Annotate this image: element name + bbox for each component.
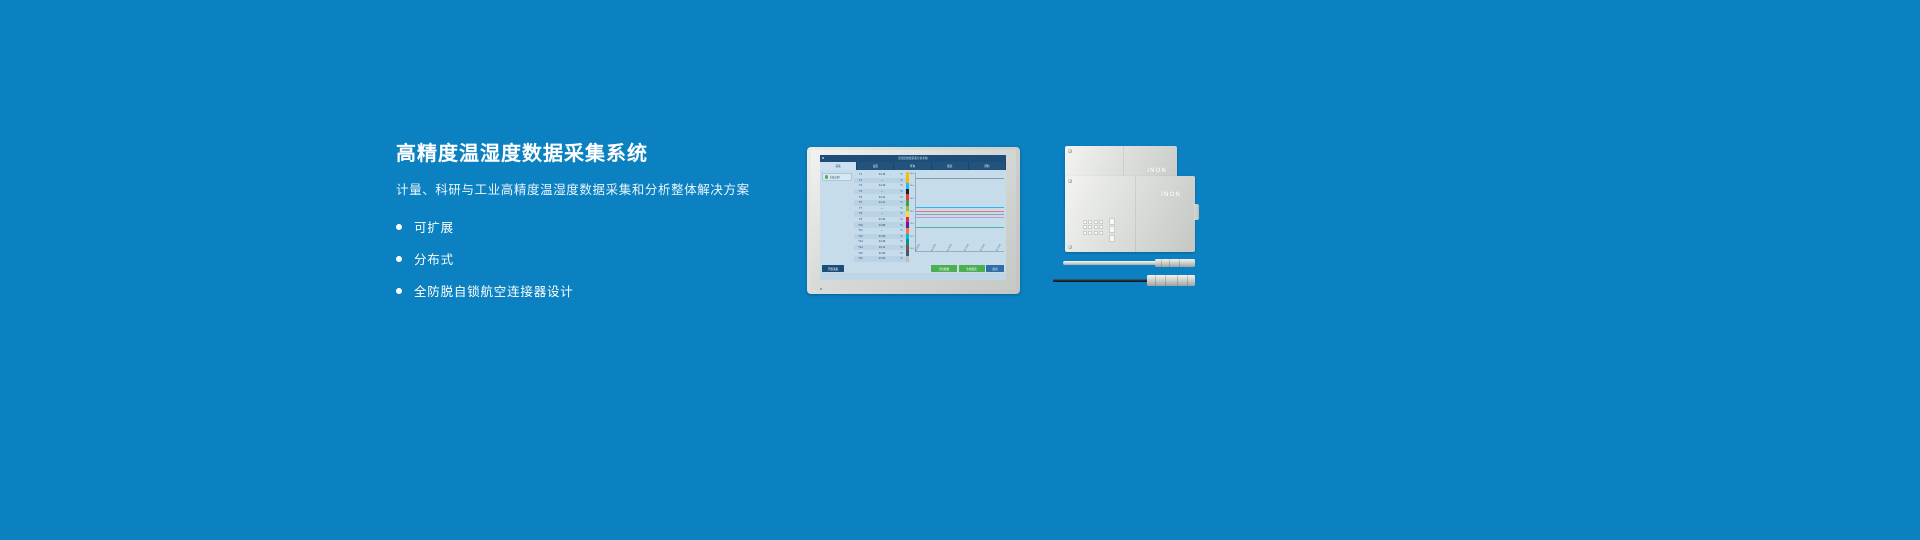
series-line: [916, 227, 1004, 228]
cell-channel: T10: [854, 224, 867, 227]
cell-unit: ℃: [897, 212, 906, 215]
start-acquire-button[interactable]: 开始采集: [822, 265, 844, 272]
cell-channel: T14: [854, 246, 867, 249]
tree-item-device[interactable]: 采集设备1: [822, 173, 852, 181]
cell-value: 23.18: [867, 173, 897, 176]
generate-report-button[interactable]: 生成报表: [959, 265, 985, 272]
feature-label: 可扩展: [414, 217, 454, 236]
cell-value: 24.28: [867, 240, 897, 243]
screw-icon: [1068, 149, 1072, 153]
y-tick-label: 20.0: [910, 248, 914, 250]
status-dot-icon: [825, 175, 829, 179]
cell-unit: ℃: [897, 246, 906, 249]
list-item: 全防脱自锁航空连接器设计: [396, 278, 796, 303]
cell-value: ---: [867, 229, 897, 232]
app-tab-bar: 采集 设置 查询 报表 帮助: [820, 162, 1006, 170]
series-line: [916, 178, 1004, 179]
feature-list: 可扩展 分布式 全防脱自锁航空连接器设计: [396, 214, 796, 303]
list-item: 分布式: [396, 246, 796, 271]
cell-channel: T9: [854, 218, 867, 221]
app-main-area: 采集设备1 T1 23.18 ℃ T2 --- ℃: [820, 170, 1006, 264]
y-tick-label: 25.0: [910, 185, 914, 187]
cell-unit: ℃: [897, 179, 906, 182]
panel-pc-screen: 温湿度数据采集分析系统 采集 设置 查询 报表 帮助 采集设备1: [820, 155, 1006, 280]
cell-value: 24.41: [867, 201, 897, 204]
brand-logo-text: INON: [1147, 168, 1167, 174]
cell-channel: T11: [854, 229, 867, 232]
series-line: [916, 214, 1004, 215]
chart-x-axis-ticks: 10:20:00 10:25:00 10:30:00 10:35:00 10:4…: [915, 251, 1004, 261]
tab-settings[interactable]: 设置: [857, 162, 894, 170]
cell-channel: T5: [854, 196, 867, 199]
tree-item-label: 采集设备1: [830, 175, 841, 179]
cell-value: ---: [867, 179, 897, 182]
cell-unit: ℃: [897, 235, 906, 238]
tab-report[interactable]: 报表: [932, 162, 969, 170]
y-tick-label: 21.0: [910, 236, 914, 238]
trend-chart: 26.0 25.0 24.0 23.0 22.0 21.0 20.0: [909, 170, 1006, 264]
cell-channel: T3: [854, 184, 867, 187]
cell-unit: ℃: [897, 224, 906, 227]
cell-unit: ℃: [897, 218, 906, 221]
feature-label: 全防脱自锁航空连接器设计: [414, 281, 574, 300]
cell-value: 24.94: [867, 257, 897, 260]
screw-icon: [1068, 245, 1072, 249]
cell-channel: T15: [854, 252, 867, 255]
cell-value: 24.12: [867, 196, 897, 199]
cell-unit: ℃: [897, 252, 906, 255]
connector-port-group: [1109, 218, 1115, 242]
cell-value: ---: [867, 190, 897, 193]
cell-value: 24.90: [867, 252, 897, 255]
cell-value: 24.30: [867, 218, 897, 221]
cell-channel: T7: [854, 207, 867, 210]
export-data-button[interactable]: 导出数据: [931, 265, 957, 272]
exit-button[interactable]: 退出: [986, 265, 1004, 272]
cell-value: 24.11: [867, 246, 897, 249]
cell-value: 24.19: [867, 184, 897, 187]
feature-label: 分布式: [414, 249, 454, 268]
bullet-dot-icon: [396, 256, 402, 262]
bullet-dot-icon: [396, 224, 402, 230]
cell-unit: ℃: [897, 229, 906, 232]
cell-channel: T2: [854, 179, 867, 182]
cell-channel: T4: [854, 190, 867, 193]
terminal-block-group: [1083, 220, 1103, 235]
page-subtitle: 计量、科研与工业高精度温湿度数据采集和分析整体解决方案: [396, 182, 796, 198]
bullet-dot-icon: [396, 288, 402, 294]
cell-unit: ℃: [897, 190, 906, 193]
panel-pc-product-photo: 温湿度数据采集分析系统 采集 设置 查询 报表 帮助 采集设备1: [807, 147, 1020, 294]
cell-channel: T16: [854, 257, 867, 260]
cell-value: 24.90: [867, 235, 897, 238]
sensor-probe-photo-2: [1053, 275, 1195, 287]
daq-module-front-photo: INON: [1065, 176, 1195, 252]
brand-logo-text: INON: [1161, 192, 1181, 198]
cell-channel: T13: [854, 240, 867, 243]
chart-plot-area: [916, 172, 1004, 251]
tab-acquire[interactable]: 采集: [820, 162, 857, 170]
cell-unit: ℃: [897, 257, 906, 260]
cell-value: ---: [867, 212, 897, 215]
series-line: [916, 217, 1004, 218]
power-led-icon: [820, 288, 822, 290]
y-tick-label: 24.0: [910, 198, 914, 200]
cell-channel: T1: [854, 173, 867, 176]
tab-help[interactable]: 帮助: [969, 162, 1006, 170]
list-item: 可扩展: [396, 214, 796, 239]
tab-query[interactable]: 查询: [894, 162, 931, 170]
cell-value: 24.88: [867, 224, 897, 227]
table-row[interactable]: T16 24.94 ℃: [854, 256, 906, 262]
cell-unit: ℃: [897, 207, 906, 210]
screw-icon: [1068, 179, 1072, 183]
channel-table: T1 23.18 ℃ T2 --- ℃ T3 24.19 ℃: [854, 170, 906, 264]
cell-unit: ℃: [897, 184, 906, 187]
y-tick-label: 22.0: [910, 223, 914, 225]
series-line: [916, 207, 1004, 208]
device-tree: 采集设备1: [820, 170, 854, 264]
cell-unit: ℃: [897, 240, 906, 243]
cell-unit: ℃: [897, 201, 906, 204]
cell-unit: ℃: [897, 196, 906, 199]
sensor-probe-photo-1: [1063, 259, 1195, 267]
y-tick-label: 23.0: [910, 211, 914, 213]
cell-channel: T8: [854, 212, 867, 215]
app-title-bar: 温湿度数据采集分析系统: [820, 155, 1006, 162]
app-button-bar: 开始采集 导出数据 生成报表 退出: [820, 264, 1006, 273]
series-line: [916, 211, 1004, 212]
cell-unit: ℃: [897, 173, 906, 176]
cell-value: ---: [867, 207, 897, 210]
banner-copy-block: 高精度温湿度数据采集系统 计量、科研与工业高精度温湿度数据采集和分析整体解决方案…: [396, 142, 796, 310]
app-button-group-right: 导出数据 生成报表 退出: [930, 265, 1005, 272]
y-tick-label: 26.0: [910, 173, 914, 175]
app-window-title: 温湿度数据采集分析系统: [820, 156, 1006, 161]
module-side-latch: [1194, 204, 1199, 220]
cell-channel: T12: [854, 235, 867, 238]
cell-channel: T6: [854, 201, 867, 204]
banner-root: 高精度温湿度数据采集系统 计量、科研与工业高精度温湿度数据采集和分析整体解决方案…: [0, 0, 1920, 540]
page-title: 高精度温湿度数据采集系统: [396, 142, 796, 166]
